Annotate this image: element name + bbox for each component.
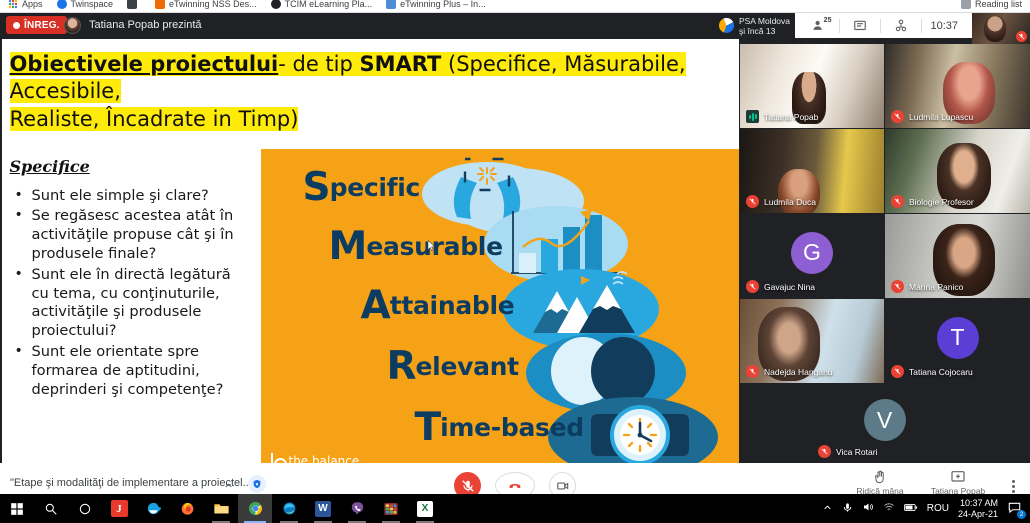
people-icon[interactable]: 25	[799, 13, 839, 38]
bookmark-label: Apps	[22, 0, 43, 11]
google-meet-app: ÎNREG. Tatiana Popab prezintă PSA Moldov…	[0, 13, 1030, 494]
smart-word: easurable	[366, 232, 502, 261]
bookmark-shield[interactable]	[127, 0, 141, 9]
list-item: Sunt ele în directă legătură cu tema, cu…	[12, 266, 250, 341]
windows-taskbar: J W	[0, 494, 1030, 523]
smart-word-list: Specific Measurable Attainable Relevant	[261, 149, 739, 463]
smart-word: ime-based	[440, 413, 584, 442]
encryption-shield-icon[interactable]	[248, 475, 266, 493]
meet-top-bar: ÎNREG. Tatiana Popab prezintă PSA Moldov…	[0, 13, 1030, 38]
screen: Apps Twinspace eTwinning NSS Des... TCIM…	[0, 0, 1030, 523]
internet-explorer-button[interactable]	[136, 494, 170, 523]
avatar: T	[937, 317, 979, 359]
participant-name-badge: Gavajuc Nina	[746, 280, 815, 293]
firefox-button[interactable]	[170, 494, 204, 523]
participant-tile[interactable]: Biologie Profesor	[885, 129, 1030, 213]
slide-title-underlined: Obiectivele proiectului	[10, 52, 279, 76]
participant-name-badge: Tatiana Cojocaru	[891, 365, 973, 378]
participant-name-badge: Vica Rotari	[818, 445, 877, 458]
excel-button[interactable]: X	[408, 494, 442, 523]
smart-letter: S	[303, 165, 330, 210]
system-tray: ROU 10:37 AM 24-Apr-21 2	[822, 494, 1030, 523]
wifi-icon[interactable]	[883, 500, 895, 518]
participant-name-badge: Ludmila Lupascu	[891, 110, 973, 123]
participant-tile[interactable]: Tatiana Popab	[740, 44, 884, 128]
winrar-button[interactable]	[374, 494, 408, 523]
recording-label: ÎNREG.	[24, 20, 60, 31]
mic-muted-icon	[891, 365, 904, 378]
clock-date: 24-Apr-21	[958, 509, 998, 520]
activities-icon[interactable]	[881, 13, 921, 38]
smart-word-timebased: Time-based	[415, 413, 584, 442]
bookmark-twinspace[interactable]: Twinspace	[57, 0, 114, 11]
participant-tile[interactable]: Ludmila Duca	[740, 129, 884, 213]
clock-time: 10:37 AM	[958, 498, 998, 509]
smart-word: ttainable	[390, 291, 515, 320]
mic-muted-icon	[891, 110, 904, 123]
reading-list-label: Reading list	[975, 0, 1022, 11]
slide-title-line2: Realiste, Încadrate in Timp)	[10, 107, 299, 131]
edge-button[interactable]	[272, 494, 306, 523]
etwinning-plus-icon	[386, 0, 396, 9]
avatar: G	[791, 232, 833, 274]
mic-muted-icon	[818, 445, 831, 458]
viber-button[interactable]	[340, 494, 374, 523]
taskbar-apps: J W	[0, 494, 442, 523]
self-view-video	[984, 16, 1006, 42]
clock[interactable]: 10:37 AM 24-Apr-21	[958, 498, 998, 520]
bookmark-label: TCIM eLearning Pla...	[285, 0, 373, 11]
avatar-initial: G	[803, 239, 821, 266]
smart-word: pecific	[330, 173, 420, 202]
participant-name-badge: Biologie Profesor	[891, 195, 974, 208]
list-item: Sunt ele simple şi clare?	[12, 187, 250, 206]
participant-name: Ludmila Duca	[764, 197, 816, 207]
meet-top-toolbar: 25 10:37	[795, 13, 972, 38]
reading-list-button[interactable]: Reading list	[961, 0, 1022, 11]
smart-letter: T	[415, 405, 441, 450]
participant-name: Ludmila Lupascu	[909, 112, 973, 122]
smart-word: elevant	[416, 352, 519, 381]
etwinning-nss-icon	[155, 0, 165, 9]
notification-count: 2	[1017, 510, 1026, 519]
smart-word-specific: Specific	[303, 173, 421, 202]
meeting-clock: 10:37	[922, 20, 968, 32]
word-button[interactable]: W	[306, 494, 340, 523]
bookmark-tcim-elearning[interactable]: TCIM eLearning Pla...	[271, 0, 373, 11]
raise-hand-button[interactable]: Ridică mâna	[848, 469, 912, 497]
apps-grid-icon	[8, 0, 18, 9]
participant-name: Vica Rotari	[836, 447, 877, 457]
smart-word-relevant: Relevant	[387, 352, 519, 381]
chrome-button[interactable]	[238, 494, 272, 523]
list-item: Se regăsesc acestea atât în activităţile…	[12, 207, 250, 263]
meeting-logo-icon	[719, 18, 734, 33]
meeting-info-chip[interactable]: PSA Moldova şi încă 13	[713, 13, 798, 38]
participant-tile[interactable]: G Gavajuc Nina	[740, 214, 884, 298]
smart-word-attainable: Attainable	[361, 291, 515, 320]
presenter-banner: Tatiana Popab prezintă	[89, 19, 202, 31]
tcim-elearning-icon	[271, 0, 281, 9]
twinspace-icon	[57, 0, 67, 9]
slide-content: Obiectivele proiectului- de tip SMART (S…	[2, 39, 739, 463]
participant-grid: Tatiana Popab Ludmila Lupascu	[740, 44, 1030, 463]
notifications-button[interactable]: 2	[1007, 501, 1024, 516]
mic-muted-icon	[746, 365, 759, 378]
slide-title: Obiectivele proiectului- de tip SMART (S…	[10, 51, 726, 134]
participant-tile[interactable]: V Vica Rotari	[812, 384, 957, 463]
participant-tile[interactable]: Marina Panico	[885, 214, 1030, 298]
presentation-title[interactable]: "Etape şi modalităţi de implementare a p…	[10, 477, 252, 489]
participant-name-badge: Marina Panico	[891, 280, 963, 293]
smart-letter: R	[387, 344, 416, 389]
mouse-cursor-icon	[428, 240, 435, 251]
presenter-avatar	[64, 17, 81, 34]
participant-name: Tatiana Popab	[764, 112, 818, 122]
balance-logo-icon	[271, 453, 284, 463]
slide-title-dash: - de tip	[278, 52, 359, 76]
participant-name-badge: Tatiana Popab	[746, 110, 818, 123]
smart-word-measurable: Measurable	[329, 232, 503, 261]
search-button[interactable]	[34, 494, 68, 523]
file-explorer-button[interactable]	[204, 494, 238, 523]
participant-name: Biologie Profesor	[909, 197, 974, 207]
meeting-others: şi încă 13	[739, 26, 790, 36]
more-options-button[interactable]	[1004, 480, 1022, 493]
battery-icon[interactable]	[904, 500, 918, 518]
presentation-stage[interactable]: Obiectivele proiectului- de tip SMART (S…	[0, 38, 740, 463]
bookmark-label: eTwinning NSS Des...	[169, 0, 257, 11]
bookmark-label: eTwinning Plus – In...	[400, 0, 486, 11]
mic-muted-icon	[891, 280, 904, 293]
record-dot-icon	[13, 22, 20, 29]
recording-badge: ÎNREG.	[6, 16, 67, 34]
mic-muted-icon	[891, 195, 904, 208]
participant-name-badge: Ludmila Duca	[746, 195, 816, 208]
participant-tile[interactable]: T Tatiana Cojocaru	[885, 299, 1030, 383]
participant-tile[interactable]: Nadejda Hanganu	[740, 299, 884, 383]
cortana-button[interactable]	[68, 494, 102, 523]
avatar-initial: V	[877, 407, 892, 434]
smart-letter: M	[329, 224, 367, 269]
participant-name: Nadejda Hanganu	[764, 367, 833, 377]
mic-active-icon	[746, 110, 759, 123]
mic-muted-icon	[746, 195, 759, 208]
pdf-app-button[interactable]: J	[102, 494, 136, 523]
bookmarks-bar: Apps Twinspace eTwinning NSS Des... TCIM…	[0, 0, 1030, 13]
participant-name: Gavajuc Nina	[764, 282, 815, 292]
microphone-icon[interactable]	[842, 500, 853, 518]
slide-title-smart: SMART	[360, 52, 442, 76]
bookmark-etwinning-nss[interactable]: eTwinning NSS Des...	[155, 0, 257, 11]
participant-tile[interactable]: Ludmila Lupascu	[885, 44, 1030, 128]
avatar: V	[864, 399, 906, 441]
slide-subtitle: Specifice	[10, 157, 90, 176]
participant-name-badge: Nadejda Hanganu	[746, 365, 833, 378]
bookmark-etwinning-plus[interactable]: eTwinning Plus – In...	[386, 0, 486, 11]
participants-count: 25	[824, 17, 832, 24]
shield-icon	[127, 0, 137, 9]
smart-infographic: Specific Measurable Attainable Relevant	[261, 149, 739, 463]
participant-name: Tatiana Cojocaru	[909, 367, 973, 377]
mic-muted-icon	[746, 280, 759, 293]
self-mic-muted-icon	[1016, 31, 1027, 42]
participant-name: Marina Panico	[909, 282, 963, 292]
self-view-tile[interactable]	[972, 13, 1030, 44]
smart-letter: A	[361, 283, 390, 328]
bookmark-apps[interactable]: Apps	[8, 0, 43, 11]
balance-watermark: the balance	[271, 453, 360, 463]
bookmark-label: Twinspace	[71, 0, 114, 11]
avatar-initial: T	[950, 324, 964, 351]
slide-bullet-list: Sunt ele simple şi clare? Se regăsesc ac…	[12, 187, 250, 402]
chat-icon[interactable]	[840, 13, 880, 38]
reading-list-icon	[961, 0, 971, 9]
start-button[interactable]	[0, 494, 34, 523]
show-hidden-icons-button[interactable]	[822, 500, 833, 518]
meeting-name: PSA Moldova	[739, 16, 790, 26]
volume-icon[interactable]	[862, 500, 874, 518]
list-item: Sunt ele orientate spre formarea de apti…	[12, 343, 250, 399]
language-indicator[interactable]: ROU	[927, 503, 949, 514]
balance-label: the balance	[289, 454, 360, 463]
